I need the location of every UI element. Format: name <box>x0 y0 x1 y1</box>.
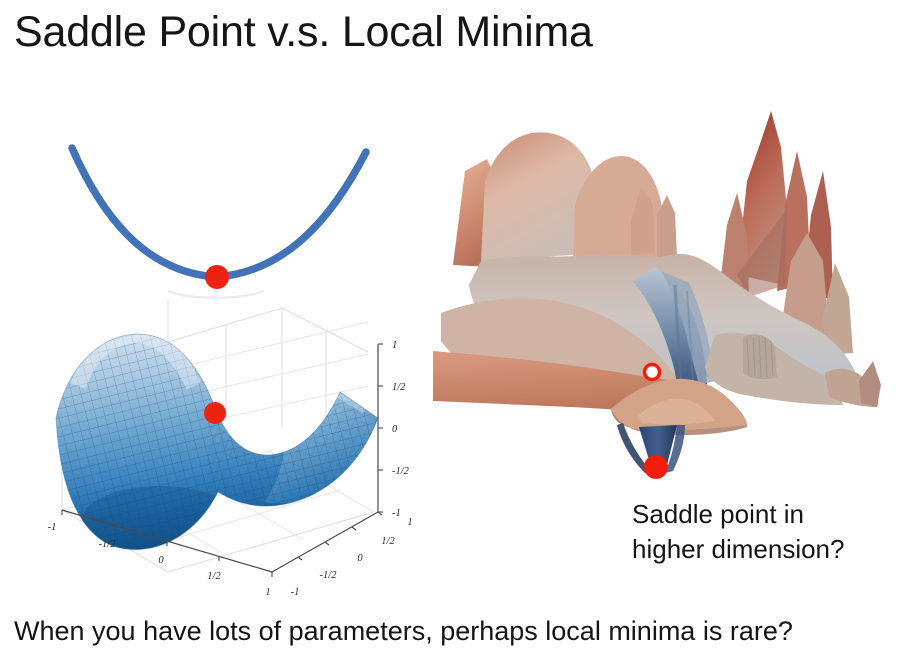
y-tick-2: 0 <box>357 553 363 564</box>
x-tick-4: 1 <box>265 587 270 598</box>
y-tick-4: 1 <box>407 517 412 528</box>
right-caption-line-2: higher dimension? <box>632 532 844 567</box>
x-tick-1: -1/2 <box>99 539 117 550</box>
saddle-surface-3d-figure: -1 -1/2 0 1/2 1 -1 -1/2 0 1/2 1 1 1/2 0 … <box>48 300 418 600</box>
y-tick-1: -1/2 <box>320 570 338 581</box>
local-minimum-marker <box>205 265 229 289</box>
x-tick-0: -1 <box>48 522 56 533</box>
landscape-minimum-marker <box>644 455 668 479</box>
z-tick-4: -1 <box>392 508 401 519</box>
right-caption-line-1: Saddle point in <box>632 497 844 532</box>
page-title: Saddle Point v.s. Local Minima <box>14 8 593 57</box>
saddle-point-marker <box>204 402 226 424</box>
landscape-saddle-point-marker <box>645 365 660 380</box>
local-minimum-1d-figure <box>50 130 390 305</box>
x-tick-2: 0 <box>158 555 164 566</box>
x-tick-3: 1/2 <box>207 571 221 582</box>
terrain-back-ridges <box>453 132 677 267</box>
z-tick-1: 1/2 <box>392 382 406 393</box>
z-tick-0: 1 <box>392 340 397 351</box>
loss-landscape-3d-figure <box>425 85 895 495</box>
z-tick-3: -1/2 <box>392 466 410 477</box>
right-caption: Saddle point in higher dimension? <box>632 497 844 567</box>
parabola-curve <box>72 148 366 277</box>
y-tick-0: -1 <box>291 587 300 598</box>
z-tick-2: 0 <box>392 424 398 435</box>
y-tick-3: 1/2 <box>381 536 395 547</box>
curve-reflection <box>168 291 264 298</box>
bottom-caption: When you have lots of parameters, perhap… <box>14 615 793 647</box>
